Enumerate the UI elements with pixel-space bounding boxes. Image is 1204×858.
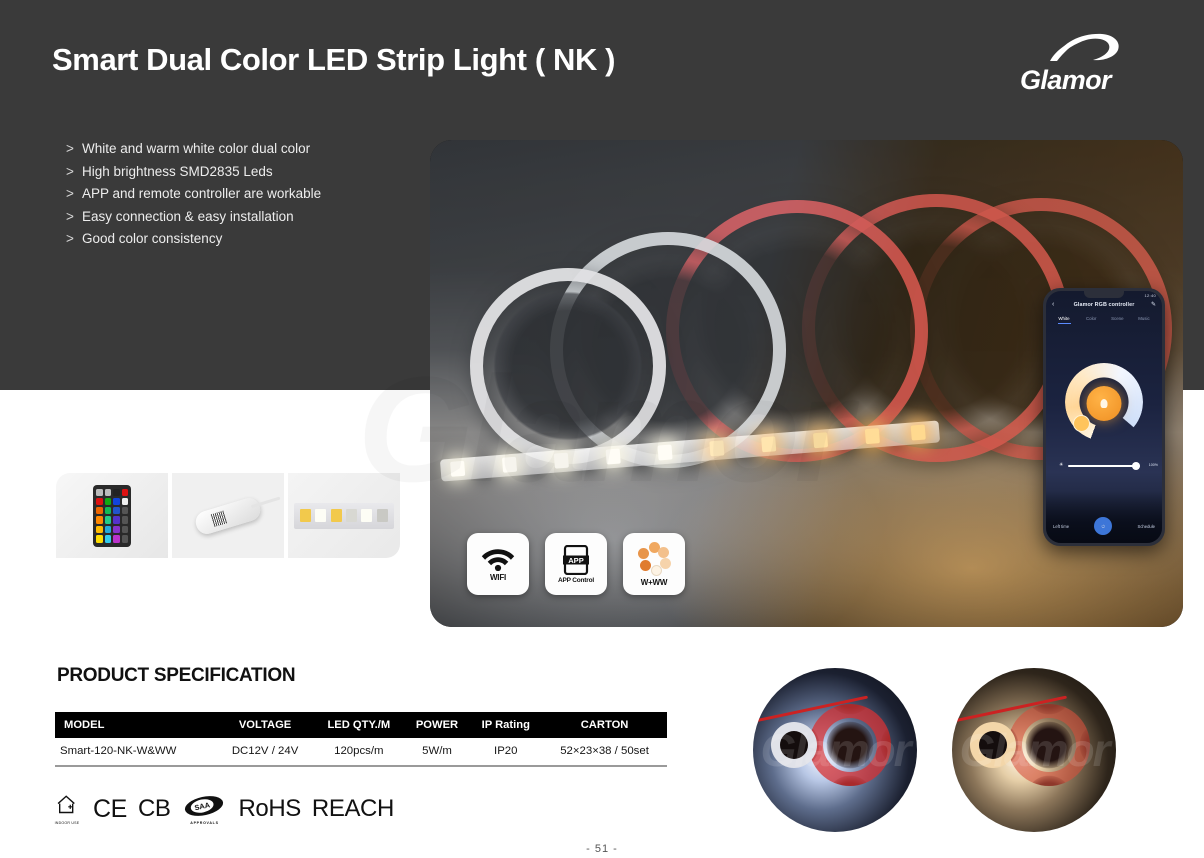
page-title: Smart Dual Color LED Strip Light ( NK ) — [52, 42, 615, 78]
phone-tab-color[interactable]: Color — [1086, 316, 1097, 324]
catalog-page: Smart Dual Color LED Strip Light ( NK ) … — [0, 0, 1204, 858]
brand-logo: Glamor — [1020, 32, 1146, 94]
specification-table: MODEL VOLTAGE LED QTY./M POWER IP Rating… — [55, 712, 667, 767]
column-header-ip-rating: IP Rating — [469, 712, 542, 738]
bullet-marker: > — [66, 209, 82, 224]
slider-thumb[interactable] — [1132, 462, 1140, 470]
cell-led-qty: 120pcs/m — [313, 738, 404, 766]
rohs-mark-icon: RoHS — [238, 797, 300, 821]
wifi-mini-controller — [193, 495, 263, 536]
feature-label: High brightness SMD2835 Leds — [82, 164, 273, 179]
feature-label: Easy connection & easy installation — [82, 209, 294, 224]
cell-ip-rating: IP20 — [469, 738, 542, 766]
brightness-slider[interactable]: ☀ 100% — [1059, 463, 1149, 468]
strip-reel-large — [809, 704, 891, 786]
reach-mark-icon: REACH — [312, 797, 394, 821]
indoor-use-label: INDOOR USE — [52, 821, 82, 825]
thumbnail-wifi-controller — [172, 473, 284, 558]
page-number: - 51 - — [0, 843, 1204, 855]
feature-item: > APP and remote controller are workable — [66, 186, 406, 201]
badge-label: WIFI — [490, 573, 506, 582]
brightness-value: 100% — [1149, 463, 1158, 467]
feature-list: > White and warm white color dual color … — [66, 141, 406, 254]
badge-dual-white: W+WW — [623, 533, 685, 595]
svg-text:APP: APP — [568, 556, 584, 565]
dual-white-icon — [637, 542, 671, 576]
led-strip-closeup — [294, 503, 394, 529]
feature-item: > Easy connection & easy installation — [66, 209, 406, 224]
phone-bottom-bar: Left time ⏻ Schedule — [1046, 517, 1162, 535]
app-control-icon: APP — [563, 545, 589, 575]
indoor-use-house-icon: INDOOR USE — [52, 793, 82, 825]
phone-edit-icon[interactable]: ✎ — [1151, 301, 1156, 308]
column-header-power: POWER — [405, 712, 470, 738]
bulb-icon — [1101, 399, 1108, 408]
cb-mark-icon: CB — [138, 797, 171, 821]
badge-label: APP Control — [558, 577, 594, 584]
feature-label: White and warm white color dual color — [82, 141, 310, 156]
feature-item: > Good color consistency — [66, 231, 406, 246]
bullet-marker: > — [66, 231, 82, 246]
column-header-voltage: VOLTAGE — [217, 712, 313, 738]
logo-text: Glamor — [1020, 67, 1111, 94]
phone-tab-bar: White Color Scene Music — [1046, 316, 1162, 324]
badge-app-control: APP APP Control — [545, 533, 607, 595]
cell-model: Smart-120-NK-W&WW — [55, 738, 217, 766]
ir-remote-controller — [93, 485, 131, 547]
phone-status-bar: 12:40 — [1144, 293, 1156, 298]
saa-approvals-label: APPROVALS — [181, 821, 227, 825]
left-time-label[interactable]: Left time — [1053, 524, 1069, 529]
feature-label: Good color consistency — [82, 231, 222, 246]
wheel-center-button[interactable] — [1087, 386, 1122, 421]
bullet-marker: > — [66, 186, 82, 201]
product-thumbnail-strip — [56, 473, 400, 558]
thumbnail-ir-remote — [56, 473, 168, 558]
phone-title: Glamor RGB controller — [1074, 302, 1135, 308]
ce-mark-icon: CE — [93, 797, 127, 822]
strip-reel-large — [1008, 704, 1090, 786]
power-icon[interactable]: ⏻ — [1094, 517, 1112, 535]
logo-swoosh-icon — [1048, 32, 1122, 62]
feature-item: > White and warm white color dual color — [66, 141, 406, 156]
thumbnail-led-strip-closeup — [288, 473, 400, 558]
strip-reel-small — [970, 722, 1016, 768]
brightness-icon: ☀ — [1059, 462, 1063, 468]
cell-power: 5W/m — [405, 738, 470, 766]
qr-code-icon — [211, 510, 227, 526]
column-header-model: MODEL — [55, 712, 217, 738]
bullet-marker: > — [66, 141, 82, 156]
table-row: Smart-120-NK-W&WW DC12V / 24V 120pcs/m 5… — [55, 738, 667, 766]
phone-screen: 12:40 ‹ Glamor RGB controller ✎ White Co… — [1046, 291, 1162, 543]
column-header-carton: CARTON — [542, 712, 667, 738]
cool-white-reel-photo: Glamor — [753, 668, 917, 832]
column-header-led-qty: LED QTY./M — [313, 712, 404, 738]
phone-header: Glamor RGB controller — [1046, 302, 1162, 308]
saa-mark-icon: SAA APPROVALS — [181, 794, 227, 824]
badge-label: W+WW — [641, 578, 668, 587]
certification-row: INDOOR USE CE CB SAA APPROVALS RoHS REAC… — [52, 793, 394, 825]
phone-tab-scene[interactable]: Scene — [1111, 316, 1123, 324]
feature-badges: WIFI APP APP Control — [467, 533, 685, 595]
phone-tab-music[interactable]: Music — [1138, 316, 1149, 324]
slider-track[interactable] — [1068, 465, 1140, 468]
saa-glyph: SAA — [181, 794, 227, 818]
table-header-row: MODEL VOLTAGE LED QTY./M POWER IP Rating… — [55, 712, 667, 738]
wifi-icon — [481, 546, 515, 571]
strip-reel-small — [771, 722, 817, 768]
feature-label: APP and remote controller are workable — [82, 186, 321, 201]
schedule-label[interactable]: Schedule — [1138, 524, 1155, 529]
phone-notch — [1084, 291, 1124, 298]
phone-mockup: 12:40 ‹ Glamor RGB controller ✎ White Co… — [1043, 288, 1165, 546]
phone-tab-white[interactable]: White — [1058, 316, 1071, 324]
badge-wifi: WIFI — [467, 533, 529, 595]
wheel-drag-handle[interactable] — [1073, 415, 1090, 432]
warm-white-reel-photo: Glamor — [952, 668, 1116, 832]
bullet-marker: > — [66, 164, 82, 179]
cell-voltage: DC12V / 24V — [217, 738, 313, 766]
hero-product-photo: WIFI APP APP Control — [430, 140, 1183, 627]
spec-heading: PRODUCT SPECIFICATION — [57, 665, 295, 687]
cell-carton: 52×23×38 / 50set — [542, 738, 667, 766]
house-glyph — [52, 793, 82, 819]
feature-item: > High brightness SMD2835 Leds — [66, 164, 406, 179]
